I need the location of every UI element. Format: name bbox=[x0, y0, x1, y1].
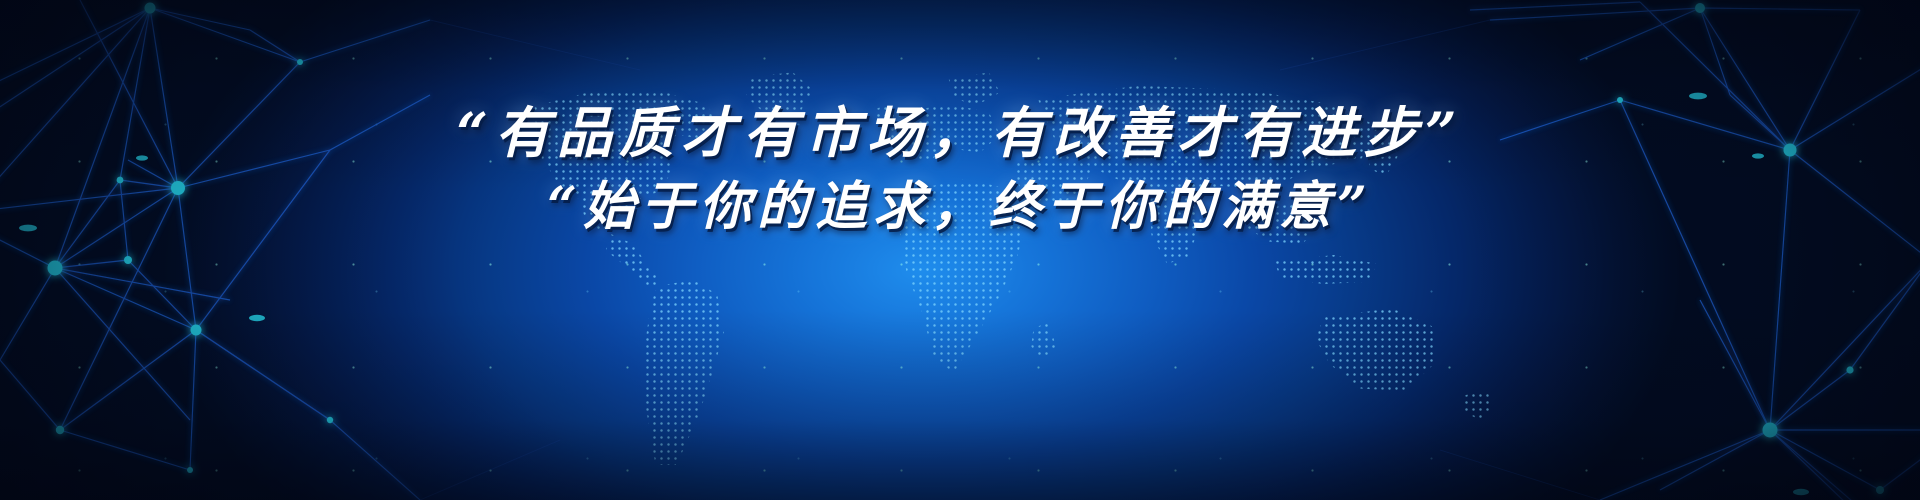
hero-banner: “有品质才有市场，有改善才有进步” “始于你的追求，终于你的满意” bbox=[0, 0, 1920, 500]
edge-shade-overlay bbox=[0, 0, 1920, 500]
headline-block: “有品质才有市场，有改善才有进步” “始于你的追求，终于你的满意” bbox=[0, 96, 1920, 244]
headline-line-1: “有品质才有市场，有改善才有进步” bbox=[0, 96, 1920, 170]
headline-line-2: “始于你的追求，终于你的满意” bbox=[0, 170, 1920, 244]
